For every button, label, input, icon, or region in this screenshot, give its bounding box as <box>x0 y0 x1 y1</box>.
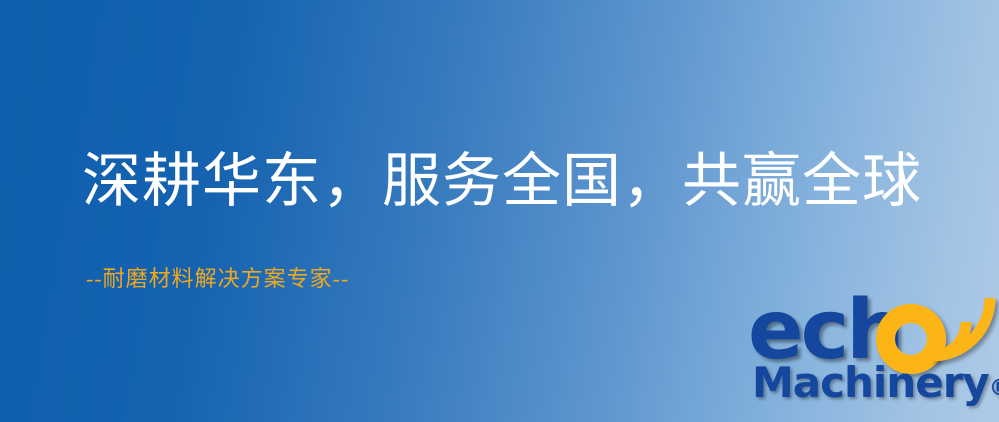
registered-trademark-icon: ® <box>989 376 999 401</box>
logo-subtext: Machinery® <box>752 362 999 404</box>
logo-subtext-label: Machinery <box>752 358 989 407</box>
banner-headline: 深耕华东，服务全国，共赢全球 <box>82 152 922 211</box>
hero-banner: 深耕华东，服务全国，共赢全球 --耐磨材料解决方案专家-- ech Machin… <box>0 0 999 422</box>
banner-subtitle: --耐磨材料解决方案专家-- <box>86 268 349 290</box>
company-logo[interactable]: ech Machinery® <box>742 296 998 422</box>
